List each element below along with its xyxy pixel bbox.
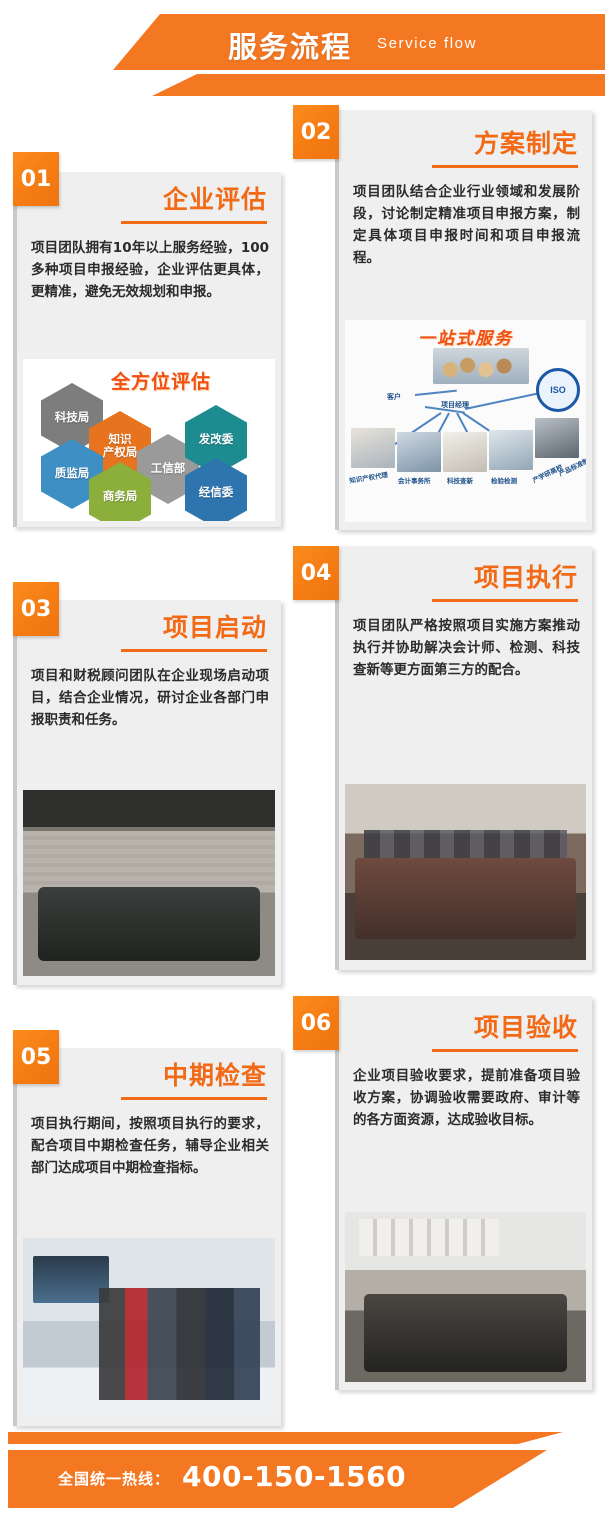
process-step-card-02[interactable]: 方案制定 项目团队结合企业行业领域和发展阶段，讨论制定精准项目申报方案，制定具体…: [335, 110, 592, 530]
service-node-customer: 客户: [387, 392, 401, 402]
step-body-02: 项目团队结合企业行业领域和发展阶段，讨论制定精准项目申报方案，制定具体项目申报时…: [339, 168, 592, 279]
service-thumb-ip: [351, 428, 395, 468]
service-caption-1: 知识产权代理: [348, 469, 388, 485]
process-step-grid: 01 企业评估 项目团队拥有10年以上服务经验，100多种项目申报经验，企业评估…: [0, 0, 605, 1538]
photo-team-working-laptops: [345, 784, 586, 960]
hexagon-node-label: 经信委: [199, 486, 234, 499]
service-caption-3: 科技查新: [447, 475, 473, 485]
step-body-03: 项目和财税顾问团队在企业现场启动项目，结合企业情况，研讨企业各部门申报职责和任务…: [17, 652, 281, 742]
footer-accent-stripe: [8, 1432, 605, 1444]
service-thumb-testing: [489, 430, 533, 470]
hexagon-node-label: 科技局: [55, 411, 90, 424]
service-caption-2: 会计事务所: [398, 475, 431, 485]
page-footer: 全国统一热线： 400-150-1560: [0, 1432, 605, 1538]
service-seal-iso: ISO: [536, 368, 580, 412]
hexagon-node-label: 质监局: [55, 467, 90, 480]
step-body-04: 项目团队严格按照项目实施方案推动执行并协助解决会计师、检测、科技查新等更方面第三…: [339, 602, 592, 692]
service-caption-4: 检验检测: [491, 475, 517, 485]
step-title-06: 项目验收: [339, 1008, 592, 1044]
process-step-card-04[interactable]: 项目执行 项目团队严格按照项目实施方案推动执行并协助解决会计师、检测、科技查新等…: [335, 546, 592, 970]
service-diagram-photo: [433, 348, 529, 384]
hexagon-node-label: 发改委: [199, 433, 234, 446]
step-body-06: 企业项目验收要求，提前准备项目验收方案，协调验收需要政府、审计等的各方面资源，达…: [339, 1052, 592, 1142]
step-badge-05: 05: [13, 1030, 59, 1084]
service-thumb-search: [443, 432, 487, 472]
hexagon-node-label: 商务局: [103, 490, 138, 503]
service-thumb-account: [397, 432, 441, 472]
step-title-02: 方案制定: [339, 124, 592, 160]
photo-office-lobby-visit: [23, 1238, 275, 1418]
photo-large-conference-meeting: [345, 1212, 586, 1382]
step-badge-03: 03: [13, 582, 59, 636]
service-diagram-title: 一站式服务: [345, 324, 586, 349]
process-step-card-05[interactable]: 中期检查 项目执行期间，按照项目执行的要求，配合项目中期检查任务，辅导企业相关部…: [13, 1048, 281, 1426]
hotline-number[interactable]: 400-150-1560: [182, 1460, 406, 1493]
hotline-label: 全国统一热线：: [58, 1468, 170, 1489]
hexagon-chart-title: 全方位评估: [111, 367, 211, 394]
service-thumb-research: [535, 418, 579, 458]
photo-conference-room-meeting: [23, 790, 275, 976]
process-step-card-01[interactable]: 企业评估 项目团队拥有10年以上服务经验，100多种项目申报经验，企业评估更具体…: [13, 172, 281, 527]
process-step-card-03[interactable]: 项目启动 项目和财税顾问团队在企业现场启动项目，结合企业情况，研讨企业各部门申报…: [13, 600, 281, 985]
step-badge-04: 04: [293, 546, 339, 600]
service-arrow-1: [415, 390, 457, 396]
hexagon-node-label: 工信部: [151, 462, 186, 475]
step-title-04: 项目执行: [339, 558, 592, 594]
process-step-card-06[interactable]: 项目验收 企业项目验收要求，提前准备项目验收方案，协调验收需要政府、审计等的各方…: [335, 996, 592, 1390]
hexagon-node-label: 知识产权局: [103, 433, 138, 459]
step-body-05: 项目执行期间，按照项目执行的要求，配合项目中期检查任务，辅导企业相关部门达成项目…: [17, 1100, 281, 1190]
one-stop-service-diagram: 一站式服务 客户 项目经理 ISO 知识产权代理 会计事务所: [345, 320, 586, 522]
step-body-01: 项目团队拥有10年以上服务经验，100多种项目申报经验，企业评估更具体，更精准，…: [17, 224, 281, 314]
step-badge-01: 01: [13, 152, 59, 206]
step-badge-06: 06: [293, 996, 339, 1050]
step-badge-02: 02: [293, 105, 339, 159]
hexagon-assessment-chart: 全方位评估 科技局 知识产权局 质监局 工信部 商务局 发改委 经信委: [23, 359, 275, 521]
